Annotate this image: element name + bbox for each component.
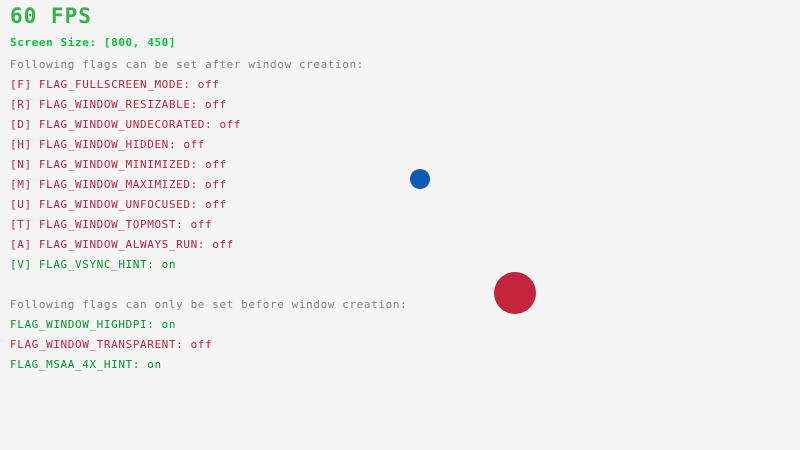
flag-row-flag-window-hidden[interactable]: [H] FLAG_WINDOW_HIDDEN: off bbox=[10, 139, 205, 150]
raylib-window-flags-demo[interactable]: 60 FPS Screen Size: [800, 450] Following… bbox=[0, 0, 800, 450]
section-heading-before-creation: Following flags can only be set before w… bbox=[10, 299, 407, 310]
fps-counter: 60 FPS bbox=[10, 6, 92, 27]
red-ball-shape bbox=[494, 272, 536, 314]
flag-row-static-flag-msaa-4x-hint[interactable]: FLAG_MSAA_4X_HINT: on bbox=[10, 359, 162, 370]
flag-row-flag-fullscreen-mode[interactable]: [F] FLAG_FULLSCREEN_MODE: off bbox=[10, 79, 219, 90]
flag-row-flag-vsync-hint[interactable]: [V] FLAG_VSYNC_HINT: on bbox=[10, 259, 176, 270]
flag-row-flag-window-maximized[interactable]: [M] FLAG_WINDOW_MAXIMIZED: off bbox=[10, 179, 227, 190]
section-heading-after-creation: Following flags can be set after window … bbox=[10, 59, 364, 70]
screen-size-readout: Screen Size: [800, 450] bbox=[10, 37, 176, 48]
flag-row-static-flag-window-transparent[interactable]: FLAG_WINDOW_TRANSPARENT: off bbox=[10, 339, 212, 350]
flag-row-flag-window-always-run[interactable]: [A] FLAG_WINDOW_ALWAYS_RUN: off bbox=[10, 239, 234, 250]
flag-row-flag-window-undecorated[interactable]: [D] FLAG_WINDOW_UNDECORATED: off bbox=[10, 119, 241, 130]
flag-row-static-flag-window-highdpi[interactable]: FLAG_WINDOW_HIGHDPI: on bbox=[10, 319, 176, 330]
flag-row-flag-window-topmost[interactable]: [T] FLAG_WINDOW_TOPMOST: off bbox=[10, 219, 212, 230]
flag-row-flag-window-resizable[interactable]: [R] FLAG_WINDOW_RESIZABLE: off bbox=[10, 99, 227, 110]
flag-row-flag-window-minimized[interactable]: [N] FLAG_WINDOW_MINIMIZED: off bbox=[10, 159, 227, 170]
blue-ball-shape bbox=[410, 169, 430, 189]
flag-row-flag-window-unfocused[interactable]: [U] FLAG_WINDOW_UNFOCUSED: off bbox=[10, 199, 227, 210]
